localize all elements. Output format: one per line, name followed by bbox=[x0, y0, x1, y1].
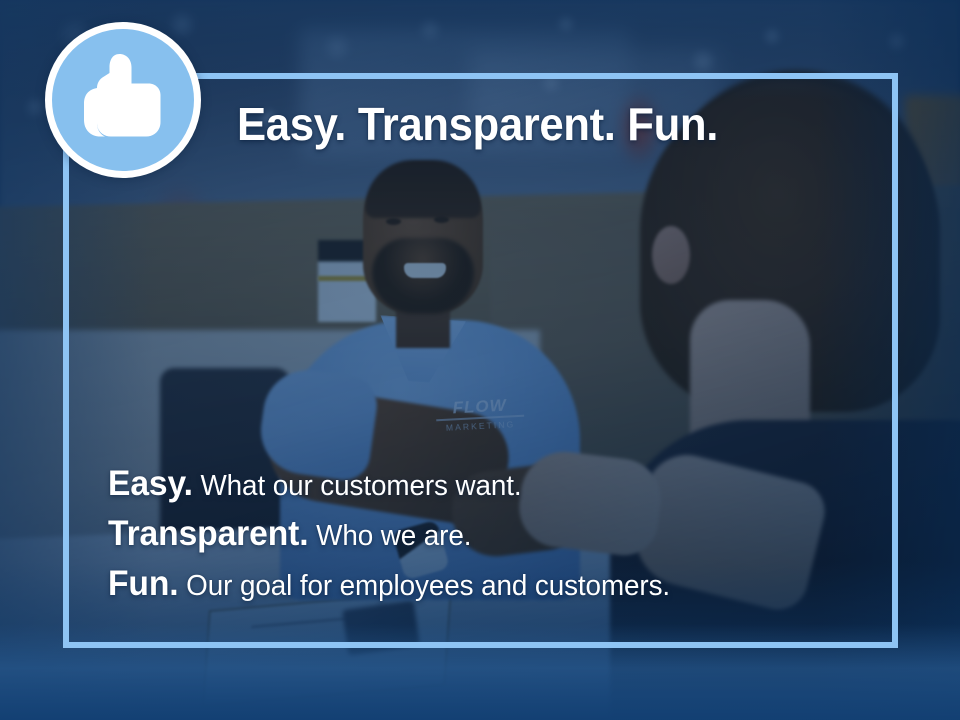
thumbs-up-icon bbox=[75, 50, 171, 150]
value-prop-line: Easy. What our customers want. bbox=[108, 460, 847, 510]
page-title: Easy. Transparent. Fun. bbox=[237, 101, 718, 147]
value-prop-line: Transparent. Who we are. bbox=[108, 510, 847, 560]
bottom-gradient-sheen bbox=[0, 624, 960, 720]
value-prop-text: Our goal for employees and customers. bbox=[186, 570, 670, 602]
value-prop-line: Fun. Our goal for employees and customer… bbox=[108, 560, 847, 610]
value-prop-lead: Transparent. bbox=[108, 514, 309, 553]
value-prop-lead: Fun. bbox=[108, 564, 179, 603]
value-prop-text: What our customers want. bbox=[200, 470, 521, 502]
banner-image: FLOW MARKETING Easy. Transparent. Fun. bbox=[0, 0, 960, 720]
thumbs-up-badge bbox=[45, 22, 201, 178]
value-prop-lead: Easy. bbox=[108, 464, 193, 503]
value-proposition-list: Easy. What our customers want. Transpare… bbox=[108, 460, 878, 610]
value-prop-text: Who we are. bbox=[316, 520, 471, 552]
